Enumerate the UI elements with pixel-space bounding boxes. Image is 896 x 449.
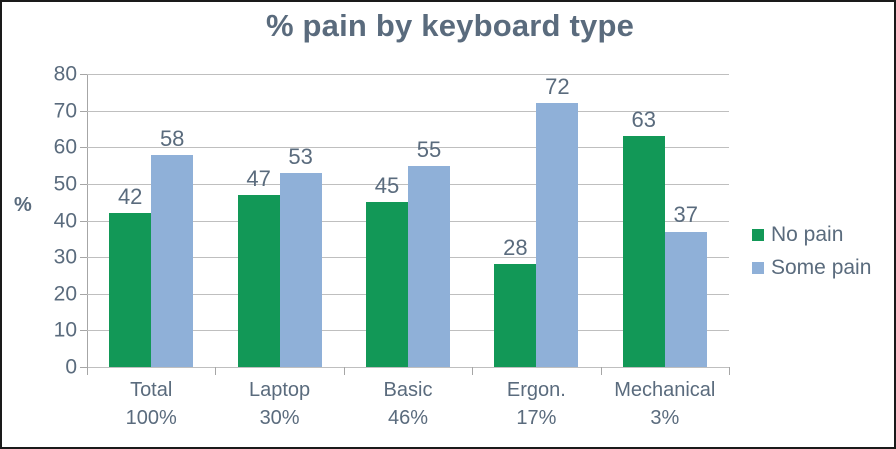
x-axis-category-label: Laptop30% <box>205 376 353 433</box>
bar-mechanical-some-pain <box>665 232 707 368</box>
legend-label: No pain <box>771 223 843 247</box>
x-axis-tick-mark <box>601 367 602 375</box>
x-axis-category-name: Total <box>130 379 172 401</box>
x-axis-tick-mark <box>87 367 88 375</box>
bar-ergon-some-pain <box>536 103 578 367</box>
y-axis-tick-label: 60 <box>31 137 77 158</box>
y-axis-tick-label: 10 <box>31 320 77 341</box>
chart-legend: No painSome pain <box>752 218 871 284</box>
bar-mechanical-no-pain <box>623 136 665 367</box>
y-axis-tick-label: 70 <box>31 100 77 121</box>
legend-item-some-pain[interactable]: Some pain <box>752 251 871 284</box>
x-axis-tick-mark <box>344 367 345 375</box>
x-axis-category-label: Total100% <box>77 376 225 433</box>
y-axis-tick-label: 30 <box>31 247 77 268</box>
legend-swatch-icon <box>752 262 764 274</box>
y-axis-tick-label: 80 <box>31 64 77 85</box>
bar-ergon-no-pain <box>494 264 536 367</box>
y-axis-tick-mark <box>80 221 87 222</box>
y-axis-tick-label: 40 <box>31 210 77 231</box>
legend-swatch-icon <box>752 229 764 241</box>
y-axis-tick-label: 20 <box>31 283 77 304</box>
bar-total-some-pain <box>151 155 193 367</box>
bar-basic-no-pain <box>366 202 408 367</box>
x-axis-category-name: Mechanical <box>614 379 715 401</box>
x-axis-category-name: Ergon. <box>507 379 566 401</box>
x-axis-category-label: Basic46% <box>334 376 482 433</box>
bar-total-no-pain <box>109 213 151 367</box>
y-axis-tick-mark <box>80 367 87 368</box>
x-axis-tick-mark <box>472 367 473 375</box>
bar-laptop-no-pain <box>238 195 280 367</box>
x-axis-category-label: Mechanical3% <box>591 376 739 433</box>
x-axis-category-name: Laptop <box>249 379 310 401</box>
y-axis-tick-labels: 01020304050607080 <box>25 2 77 449</box>
bar-value-label: 55 <box>398 139 460 161</box>
x-axis-category-label: Ergon.17% <box>462 376 610 433</box>
x-axis-category-share: 46% <box>334 404 482 432</box>
bar-value-label: 53 <box>270 146 332 168</box>
x-axis-category-share: 3% <box>591 404 739 432</box>
x-axis-category-share: 17% <box>462 404 610 432</box>
gridline <box>87 367 729 368</box>
bar-basic-some-pain <box>408 166 450 367</box>
x-axis-category-name: Basic <box>384 379 433 401</box>
chart-container: % pain by keyboard type % 01020304050607… <box>0 0 896 449</box>
y-axis-tick-mark <box>80 294 87 295</box>
x-axis-tick-mark <box>729 367 730 375</box>
legend-item-no-pain[interactable]: No pain <box>752 218 871 251</box>
y-axis-tick-mark <box>80 184 87 185</box>
y-axis-tick-mark <box>80 257 87 258</box>
y-axis-tick-mark <box>80 111 87 112</box>
bar-laptop-some-pain <box>280 173 322 367</box>
y-axis-tick-mark <box>80 330 87 331</box>
x-axis-category-share: 30% <box>205 404 353 432</box>
plot-area: 42584753455528726337 <box>87 74 729 367</box>
x-axis-category-share: 100% <box>77 404 225 432</box>
bar-value-label: 63 <box>613 109 675 131</box>
chart-title: % pain by keyboard type <box>2 8 896 44</box>
y-axis-tick-label: 50 <box>31 173 77 194</box>
x-axis-tick-mark <box>215 367 216 375</box>
bar-value-label: 58 <box>141 128 203 150</box>
gridline <box>87 74 729 75</box>
y-axis-tick-mark <box>80 147 87 148</box>
legend-label: Some pain <box>771 256 871 280</box>
bar-value-label: 37 <box>655 204 717 226</box>
y-axis-tick-label: 0 <box>31 357 77 378</box>
bar-value-label: 72 <box>526 76 588 98</box>
y-axis-tick-mark <box>80 74 87 75</box>
